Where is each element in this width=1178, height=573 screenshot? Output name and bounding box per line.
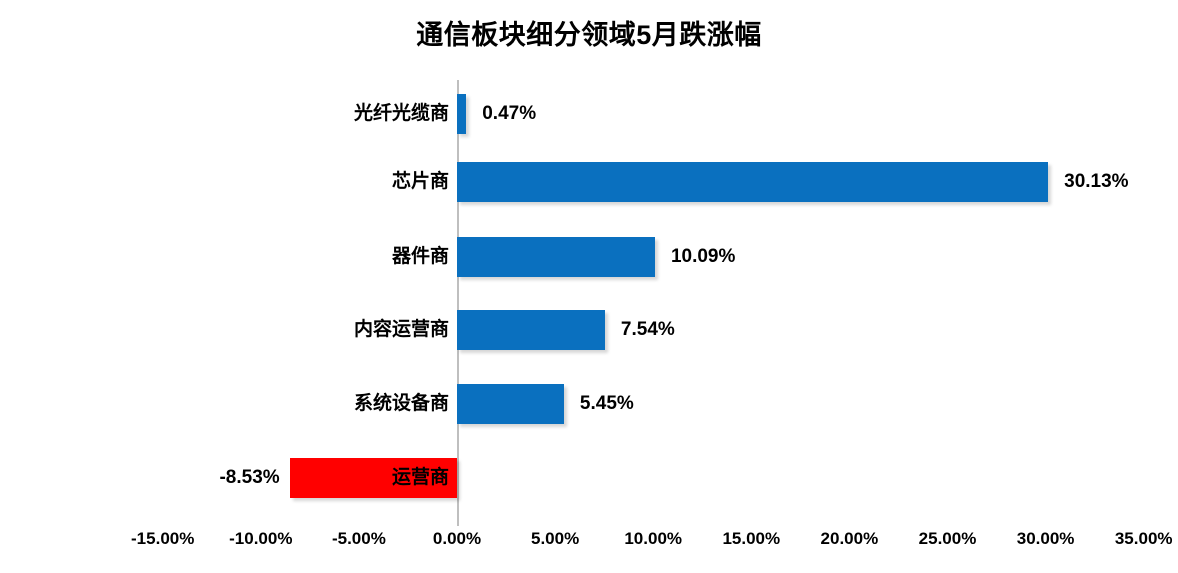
x-tick-label: -5.00% xyxy=(332,528,386,550)
category-label: 器件商 xyxy=(392,245,449,269)
category-label: 光纤光缆商 xyxy=(354,102,449,126)
x-tick-label: 0.00% xyxy=(433,528,481,550)
value-label: 7.54% xyxy=(621,318,675,342)
bar-positive[interactable] xyxy=(457,310,605,350)
x-tick-label: 5.00% xyxy=(531,528,579,550)
bar-row: 光纤光缆商 0.47% xyxy=(0,80,1178,148)
x-tick-label: 25.00% xyxy=(919,528,977,550)
x-tick-label: -10.00% xyxy=(229,528,292,550)
x-axis: -15.00%-10.00%-5.00%0.00%5.00%10.00%15.0… xyxy=(0,528,1178,560)
bar-positive[interactable] xyxy=(457,237,655,277)
bar-positive[interactable] xyxy=(457,94,466,134)
value-label: 10.09% xyxy=(671,245,735,269)
category-label: 运营商 xyxy=(392,466,449,490)
chart-title: 通信板块细分领域5月跌涨幅 xyxy=(0,18,1178,52)
x-tick-label: 30.00% xyxy=(1017,528,1075,550)
bar-chart: 通信板块细分领域5月跌涨幅 光纤光缆商 0.47% 芯片商 30.13% 器件商… xyxy=(0,0,1178,573)
x-tick-label: 10.00% xyxy=(624,528,682,550)
value-label: 0.47% xyxy=(482,102,536,126)
plot-area: 光纤光缆商 0.47% 芯片商 30.13% 器件商 10.09% 内容运营商 … xyxy=(0,80,1178,528)
x-tick-label: 20.00% xyxy=(821,528,879,550)
category-label: 系统设备商 xyxy=(354,392,449,416)
value-label: 30.13% xyxy=(1064,170,1128,194)
bar-positive[interactable] xyxy=(457,162,1048,202)
bar-row: 器件商 10.09% xyxy=(0,223,1178,291)
x-tick-label: -15.00% xyxy=(131,528,194,550)
x-tick-label: 15.00% xyxy=(722,528,780,550)
category-label: 芯片商 xyxy=(392,170,449,194)
bar-row: 芯片商 30.13% xyxy=(0,148,1178,216)
bar-row: 系统设备商 5.45% xyxy=(0,370,1178,438)
value-label: 5.45% xyxy=(580,392,634,416)
value-label: -8.53% xyxy=(219,466,279,490)
bar-positive[interactable] xyxy=(457,384,564,424)
category-label: 内容运营商 xyxy=(354,318,449,342)
bar-row: 内容运营商 7.54% xyxy=(0,296,1178,364)
x-tick-label: 35.00% xyxy=(1115,528,1173,550)
bar-row: 运营商 -8.53% xyxy=(0,444,1178,512)
